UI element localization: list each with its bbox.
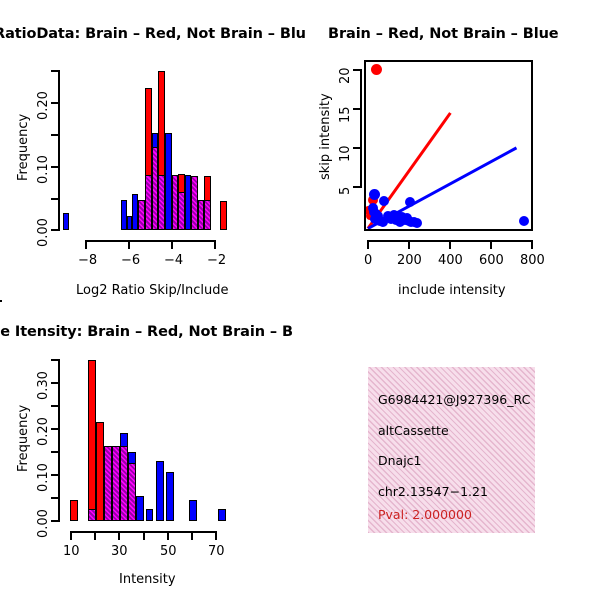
x-tick--8	[85, 240, 87, 249]
y-tick-0.20	[51, 428, 60, 430]
y-tick-0.30	[51, 382, 60, 384]
scatter-intensity-title: Brain – Red, Not Brain – Blue	[328, 26, 559, 42]
y-tick-0.25	[51, 405, 60, 407]
x-tick-label-400: 400	[438, 253, 463, 268]
y-tick-0.15	[51, 451, 60, 453]
x-tick-800	[531, 240, 533, 249]
x-tick-label-200: 200	[397, 253, 422, 268]
histogram-log2ratio-title: RatioData: Brain – Red, Not Brain – Blu	[0, 26, 306, 42]
bar	[178, 192, 185, 230]
bar	[120, 446, 128, 521]
x-tick-label--8: −8	[78, 253, 97, 268]
y-tick-label-10: 10	[338, 145, 353, 162]
pvalue-text: Pval: 2.000000	[378, 507, 472, 522]
bar	[165, 133, 172, 230]
y-tick-label-5: 5	[338, 187, 353, 195]
y-tick-0.00	[51, 520, 60, 522]
histogram-log2ratio-panel: RatioData: Brain – Red, Not Brain – Blu …	[0, 0, 300, 300]
data-point	[412, 218, 422, 228]
bar	[0, 300, 2, 302]
gene-symbol-text: Dnajc1	[378, 453, 422, 468]
histogram-intensity-ylabel: Frequency	[16, 405, 31, 472]
y-tick-5	[353, 186, 362, 188]
histogram-log2ratio-xaxis	[85, 240, 216, 242]
histogram-intensity-xlabel: Intensity	[119, 572, 176, 587]
y-tick-0.20	[51, 102, 60, 104]
bar	[112, 446, 120, 521]
y-tick-label-0.10: 0.10	[36, 155, 51, 184]
x-tick-600	[490, 240, 492, 249]
gene-info-panel: G6984421@J927396_RC altCassette Dnajc1 c…	[368, 367, 535, 533]
bar	[189, 500, 197, 521]
y-tick-0.05	[51, 497, 60, 499]
bar	[138, 200, 145, 230]
data-point	[379, 196, 389, 206]
bar	[96, 422, 104, 521]
bar	[136, 496, 144, 521]
y-tick-0.35	[51, 359, 60, 361]
probe-id-text: G6984421@J927396_RC	[378, 392, 530, 407]
bar	[218, 509, 226, 521]
y-tick-15	[353, 108, 362, 110]
histogram-log2ratio-xlabel: Log2 Ratio Skip/Include	[76, 283, 228, 298]
histogram-intensity-title: ne Itensity: Brain – Red, Not Brain – B	[0, 324, 293, 340]
x-tick-label-800: 800	[520, 253, 545, 268]
x-tick-label-50: 50	[160, 544, 177, 559]
bar	[220, 201, 227, 230]
x-tick-10	[70, 531, 72, 540]
y-tick-label-20: 20	[338, 67, 353, 84]
histogram-log2ratio-ylabel: Frequency	[16, 114, 31, 181]
x-tick-60	[191, 531, 193, 540]
y-tick-0.25	[51, 70, 60, 72]
bar	[146, 509, 153, 521]
bar	[128, 463, 136, 521]
x-tick-50	[167, 531, 169, 540]
bar	[166, 472, 174, 521]
x-tick--6	[128, 240, 130, 249]
scatter-intensity-panel: Brain – Red, Not Brain – Blue 20 15 10 5…	[300, 0, 600, 300]
y-tick-0.05	[51, 198, 60, 200]
y-tick-label-0.20: 0.20	[36, 417, 51, 446]
x-tick-0	[367, 240, 369, 249]
y-tick-label-0.00: 0.00	[36, 218, 51, 247]
x-tick-200	[408, 240, 410, 249]
bar	[88, 509, 96, 521]
bar	[145, 175, 152, 230]
x-tick-label-30: 30	[111, 544, 128, 559]
x-tick-label--6: −6	[121, 253, 140, 268]
bar	[88, 360, 96, 521]
scatter-plot-area	[364, 60, 533, 231]
scatter-intensity-yaxis	[360, 69, 362, 187]
x-tick-label--4: −4	[164, 253, 183, 268]
bar	[104, 446, 112, 521]
y-tick-0.00	[51, 229, 60, 231]
y-tick-10	[353, 147, 362, 149]
y-tick-0.10	[51, 474, 60, 476]
x-tick-40	[143, 531, 145, 540]
locus-text: chr2.13547−1.21	[378, 484, 488, 499]
x-tick-label--2: −2	[207, 253, 226, 268]
x-tick-label-10: 10	[63, 544, 80, 559]
histogram-log2ratio-yaxis	[58, 70, 60, 230]
y-tick-label-0.10: 0.10	[36, 463, 51, 492]
event-type-text: altCassette	[378, 423, 449, 438]
y-tick-label-0.20: 0.20	[36, 91, 51, 120]
x-tick-20	[94, 531, 96, 540]
bar	[204, 200, 211, 230]
x-tick-label-0: 0	[364, 253, 372, 268]
data-point	[405, 197, 415, 207]
x-tick-label-70: 70	[208, 544, 225, 559]
x-tick-label-600: 600	[479, 253, 504, 268]
data-point	[519, 216, 529, 226]
scatter-intensity-xlabel: include intensity	[398, 283, 506, 298]
x-tick--4	[171, 240, 173, 249]
y-tick-0.15	[51, 134, 60, 136]
y-tick-label-15: 15	[338, 106, 353, 123]
bar	[191, 176, 198, 230]
x-tick-70	[215, 531, 217, 540]
x-tick--2	[214, 240, 216, 249]
y-tick-0.10	[51, 166, 60, 168]
bar	[70, 500, 78, 521]
bar	[156, 461, 164, 521]
data-point	[371, 64, 382, 75]
bar	[158, 175, 165, 230]
y-tick-label-0.30: 0.30	[36, 371, 51, 400]
bar	[63, 213, 69, 230]
y-tick-label-0.00: 0.00	[36, 509, 51, 538]
x-tick-30	[118, 531, 120, 540]
x-tick-400	[449, 240, 451, 249]
scatter-intensity-ylabel: skip intensity	[318, 93, 333, 180]
histogram-intensity-panel: ne Itensity: Brain – Red, Not Brain – B …	[0, 300, 300, 600]
y-tick-20	[353, 69, 362, 71]
